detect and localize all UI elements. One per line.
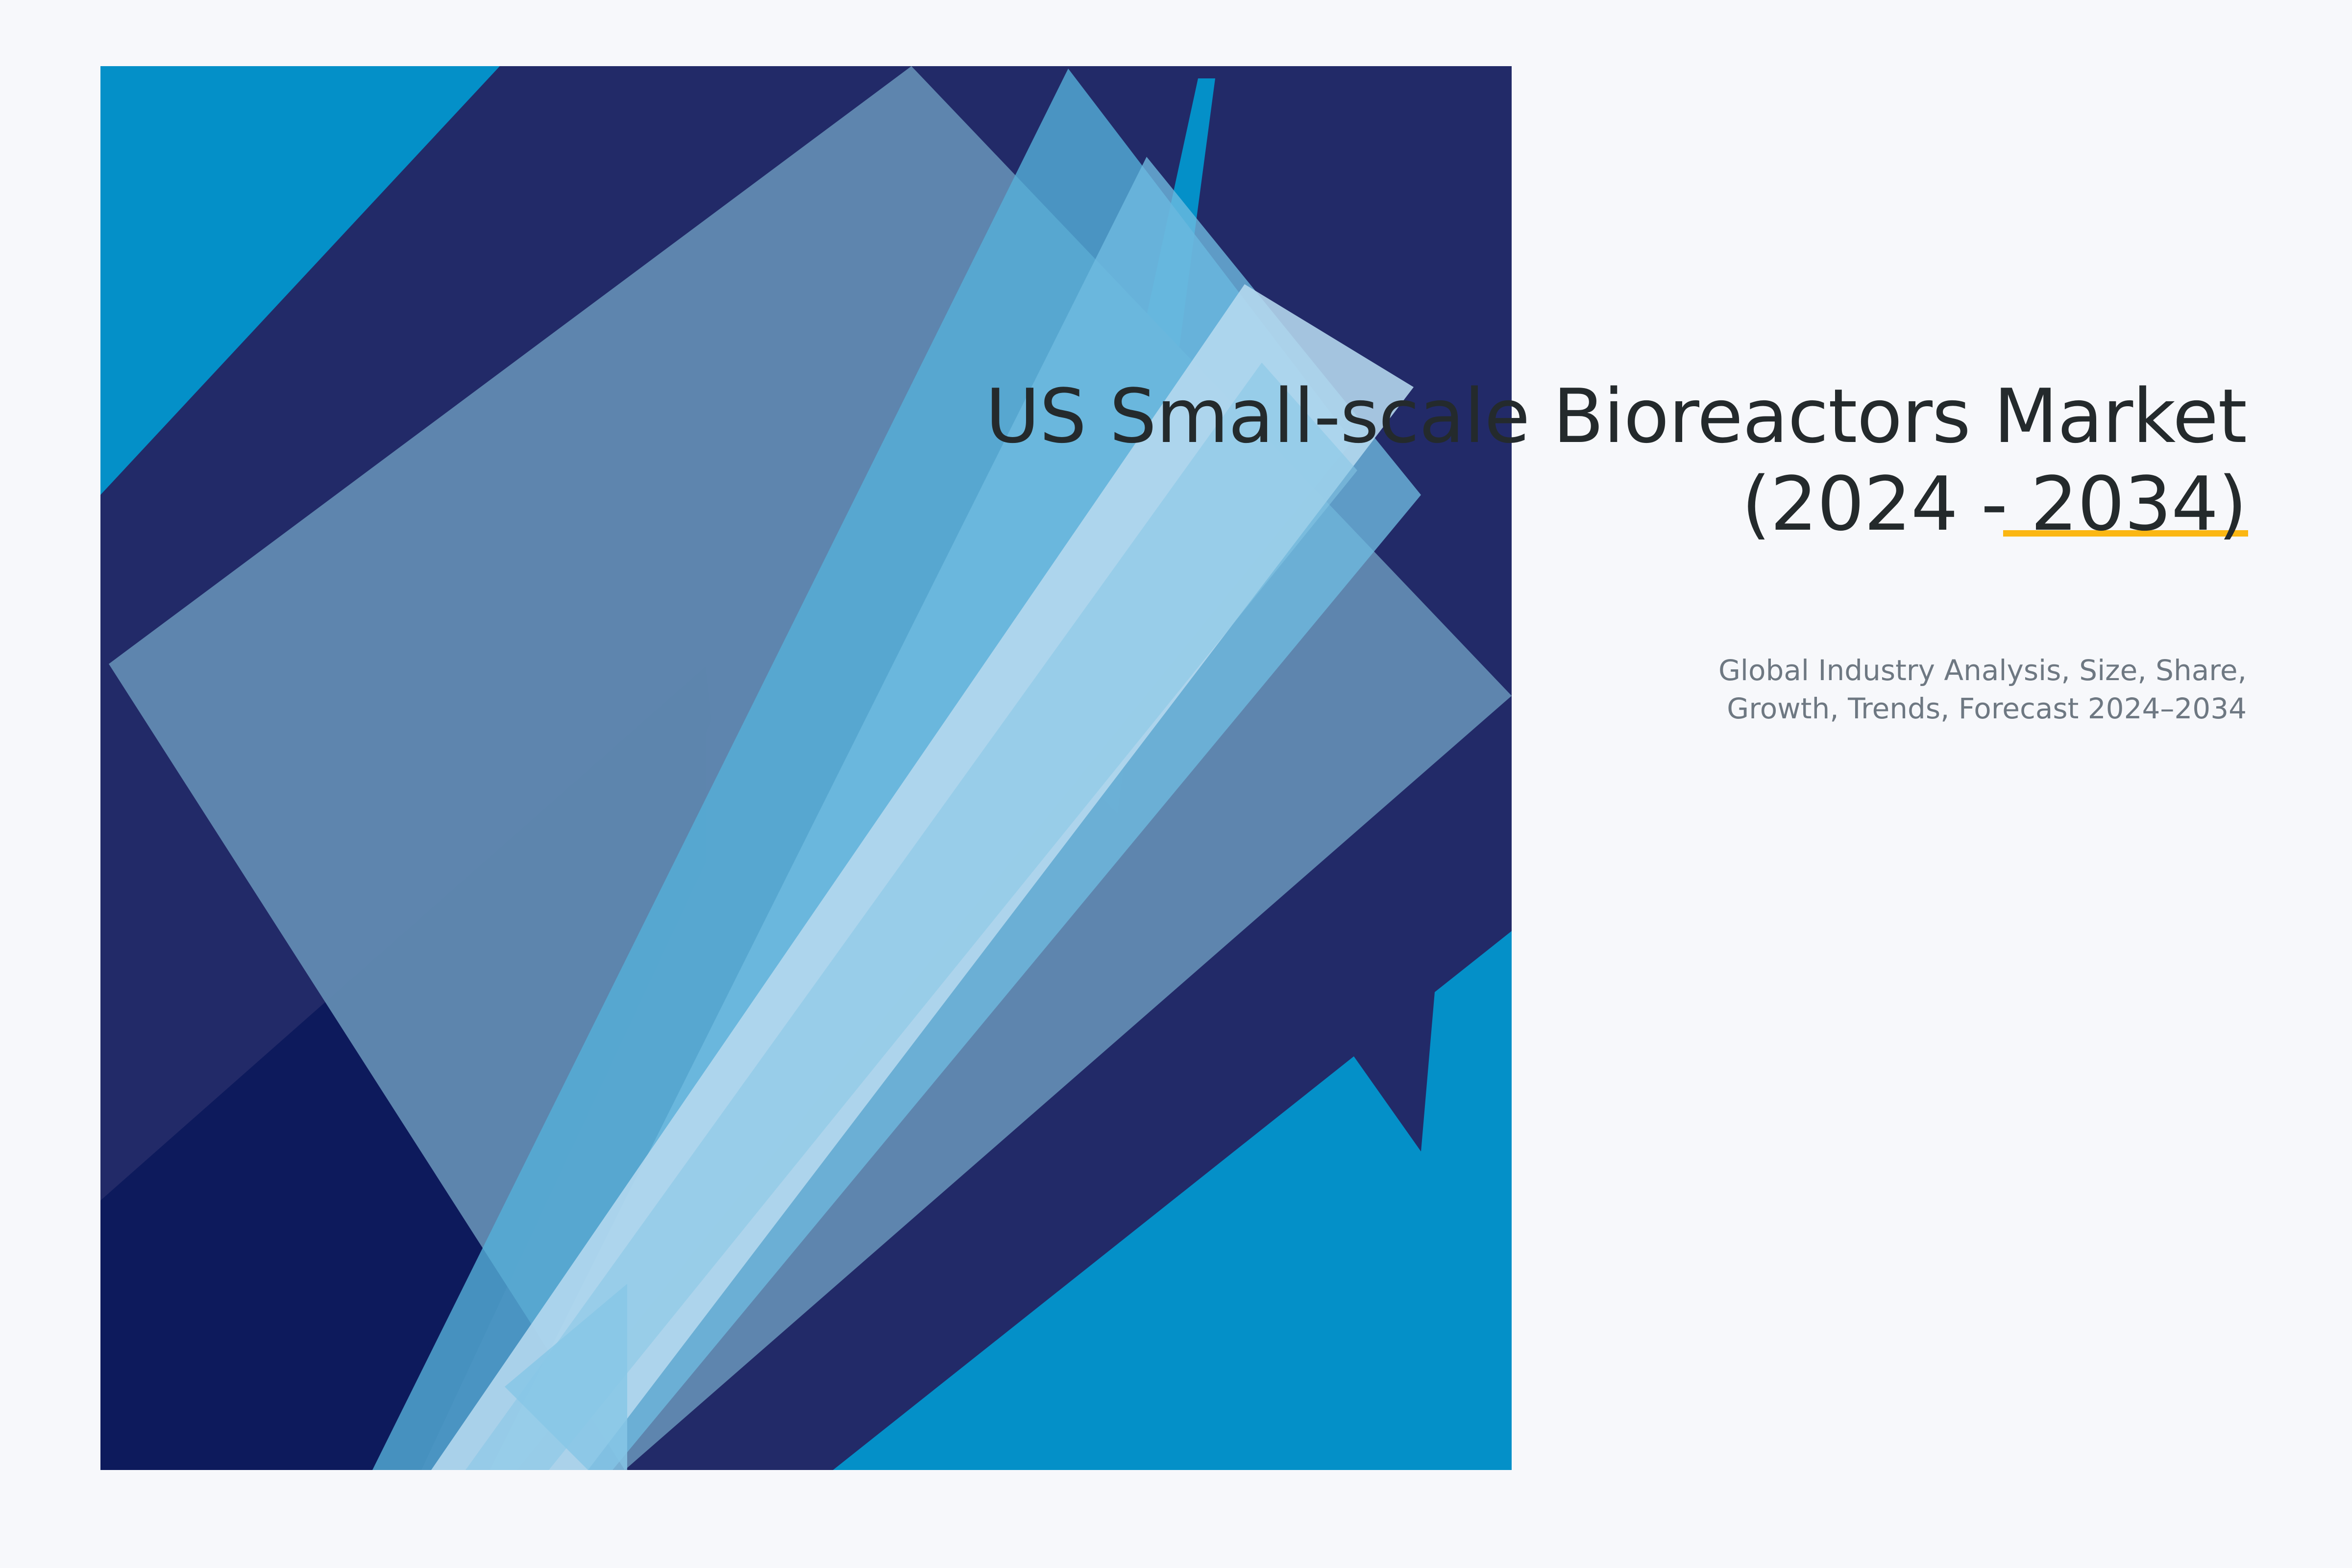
title-block: US Small-scale Bioreactors Market (2024 … xyxy=(882,372,2247,548)
page-subtitle: Global Industry Analysis, Size, Share, G… xyxy=(1323,652,2247,728)
page-title: US Small-scale Bioreactors Market (2024 … xyxy=(882,372,2247,548)
abstract-geometric-panel xyxy=(0,0,2352,1568)
cover-page: US Small-scale Bioreactors Market (2024 … xyxy=(0,0,2352,1568)
